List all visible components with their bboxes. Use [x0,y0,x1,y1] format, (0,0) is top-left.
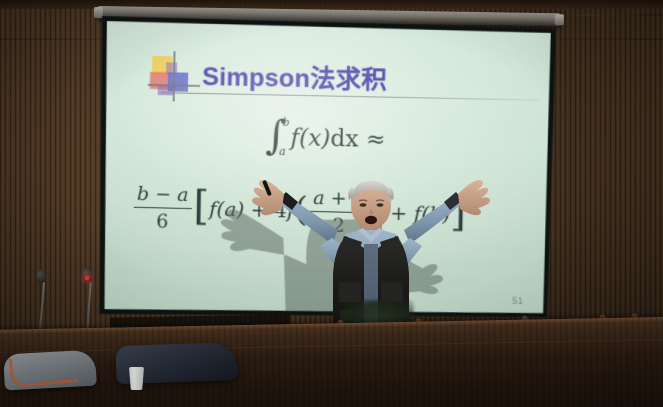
midpoint-numerator: a + b [310,187,369,210]
logo-square-violet [158,86,173,95]
differential: dx [330,126,359,153]
bag-strap [9,353,78,388]
screen-surface: Simpson法求积 ∫baf(x)dx ≈ b − a 6 [f(a) [102,21,551,321]
conference-desk [0,317,663,407]
coefficient-numerator: b − a [134,183,192,206]
approx-sign: ≈ [366,126,386,153]
integral-lower-limit: a [279,146,286,158]
powerpoint-slide: Simpson法求积 ∫baf(x)dx ≈ b − a 6 [f(a) [102,21,551,321]
term-fa: f(a) [209,197,245,222]
desk-wood-grain [0,317,663,407]
term-fb: f(b) [413,201,450,226]
screen-roller-cap-right [555,14,564,25]
integral-upper-limit: b [283,117,290,129]
plus-sign-1: + [250,198,267,223]
formula-integral-line: ∫baf(x)dx ≈ [105,121,549,157]
coefficient-fraction: b − a 6 [133,183,192,234]
integrand: f(x) [290,125,330,152]
plus-sign-2: + [390,201,407,226]
slide-title: Simpson法求积 [202,57,387,97]
coefficient-fraction-bar [134,207,192,210]
screen-frame: Simpson法求积 ∫baf(x)dx ≈ b − a 6 [f(a) [97,16,556,326]
paren-close: ) [370,191,384,232]
bracket-close: ] [450,189,467,236]
formula-simpson-line: b − a 6 [f(a) + 4f( a + b 2 ) + f(b)] [131,184,466,241]
bracket-open: [ [193,183,210,229]
lecture-hall-photo: Simpson法求积 ∫baf(x)dx ≈ b − a 6 [f(a) [0,0,663,407]
midpoint-fraction: a + b 2 [309,187,368,238]
microphone-led-indicator [85,276,89,280]
slide-number: 51 [512,296,523,306]
paren-open: ( [294,190,308,231]
midpoint-fraction-bar [310,211,368,214]
term2-coefficient: 4 [274,198,287,222]
integral-limits: ba [280,126,288,149]
paper-cup [129,367,144,390]
projection-screen: Simpson法求积 ∫baf(x)dx ≈ b − a 6 [f(a) [96,6,552,318]
coefficient-denominator: 6 [133,210,191,233]
screen-roller-cap-left [94,7,103,18]
term2-function: f [287,198,295,222]
microphone-capsule [36,270,46,283]
midpoint-denominator: 2 [309,214,368,238]
